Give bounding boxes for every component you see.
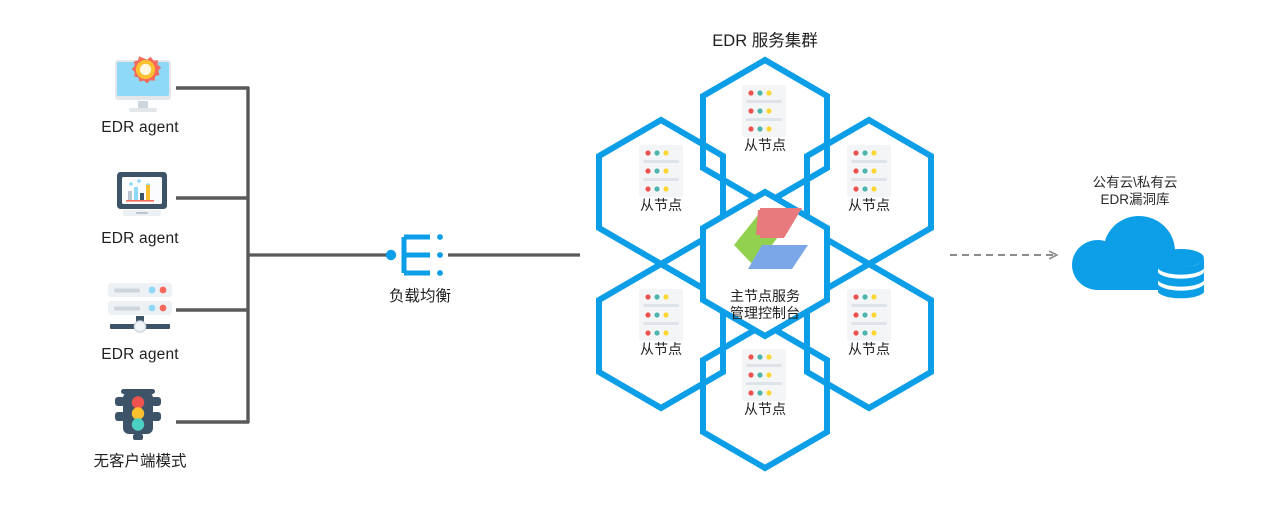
slave-label-bottom-right: 从节点	[809, 340, 929, 359]
cluster-title: EDR 服务集群	[665, 30, 865, 52]
master-label-line1: 主节点服务	[705, 288, 825, 306]
cloud-database-icon	[1072, 216, 1204, 302]
slave-label-top: 从节点	[705, 136, 825, 155]
diagram-canvas: EDR agent EDR agent EDR agent 无客户端模式 负载均…	[0, 0, 1267, 516]
load-balancer-label: 负载均衡	[340, 287, 500, 308]
cloud-label-line2: EDR漏洞库	[1055, 191, 1215, 209]
server-stack-icon-top	[742, 85, 786, 137]
client-bus-connectors	[176, 87, 580, 423]
client-label-4: 无客户端模式	[60, 452, 220, 473]
slave-label-top-left: 从节点	[601, 196, 721, 215]
client-label-3: EDR agent	[60, 345, 220, 366]
slave-label-top-right: 从节点	[809, 196, 929, 215]
slave-label-bottom: 从节点	[705, 400, 825, 419]
master-label-line2: 管理控制台	[705, 305, 825, 323]
server-stack-icon-top-left	[639, 145, 683, 197]
server-stack-icon-bottom-left	[639, 289, 683, 341]
load-balancer-icon	[386, 234, 443, 276]
client-label-2: EDR agent	[60, 229, 220, 250]
slave-label-bottom-left: 从节点	[601, 340, 721, 359]
server-stack-icon-bottom-right	[847, 289, 891, 341]
diagram-shapes	[0, 0, 1267, 516]
server-stack-icon-bottom	[742, 349, 786, 401]
traffic-light-icon	[115, 389, 161, 440]
server-stack-icon-top-right	[847, 145, 891, 197]
client-label-1: EDR agent	[60, 118, 220, 139]
cloud-label-line1: 公有云\私有云	[1055, 174, 1215, 192]
server-rack-icon	[108, 283, 172, 332]
monitor-gear-icon	[115, 56, 171, 112]
monitor-chart-icon	[117, 172, 167, 216]
